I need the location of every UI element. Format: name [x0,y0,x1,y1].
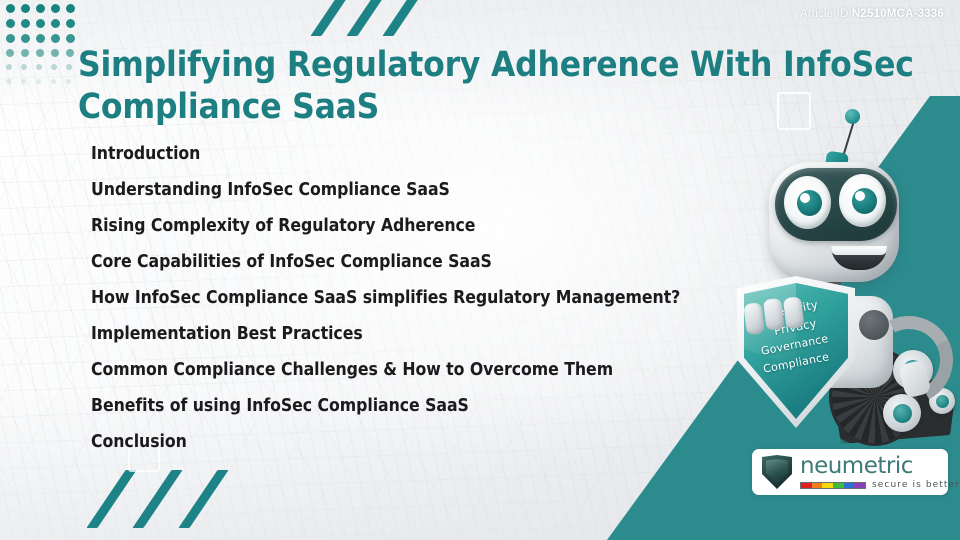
agenda-item-understanding[interactable]: Understanding InfoSec Compliance SaaS [91,172,751,208]
article-id-value: N2510MCA-3336 [852,8,944,20]
neumetric-logo-text: neumetric secure is better [800,455,960,490]
article-id: Article ID N2510MCA-3336 [800,8,944,20]
neumetric-shield-icon [762,455,792,489]
neumetric-wordmark: neumetric [800,455,960,478]
agenda-item-introduction[interactable]: Introduction [91,136,751,172]
robot-teeth [831,246,887,255]
agenda-item-conclusion[interactable]: Conclusion [91,424,751,460]
agenda-list: Introduction Understanding InfoSec Compl… [91,136,751,460]
agenda-item-rising-complexity[interactable]: Rising Complexity of Regulatory Adherenc… [91,208,751,244]
robot-mascot: Security Privacy Governance Compliance [735,104,960,434]
neumetric-logo-bottom: secure is better [800,481,960,490]
agenda-item-core-capabilities[interactable]: Core Capabilities of InfoSec Compliance … [91,244,751,280]
robot-antenna-ball [845,109,860,124]
diagonal-stripes-top [324,0,444,24]
slide-canvas: Article ID N2510MCA-3336 Simplifying Reg… [0,0,960,540]
robot-eye-glint-right [855,191,865,201]
dot-matrix-decoration [6,4,81,94]
agenda-item-common-challenges[interactable]: Common Compliance Challenges & How to Ov… [91,352,751,388]
agenda-item-benefits[interactable]: Benefits of using InfoSec Compliance Saa… [91,388,751,424]
neumetric-logo[interactable]: neumetric secure is better [752,449,948,495]
article-id-label: Article ID [800,8,849,20]
agenda-item-how-it-simplifies[interactable]: How InfoSec Compliance SaaS simplifies R… [91,280,751,316]
neumetric-color-bar [800,482,866,489]
agenda-item-implementation[interactable]: Implementation Best Practices [91,316,751,352]
diagonal-stripes-bottom [100,470,230,540]
robot-eye-glint-left [800,193,810,203]
robot-shoulder [859,310,889,340]
neumetric-tagline: secure is better [872,481,960,490]
